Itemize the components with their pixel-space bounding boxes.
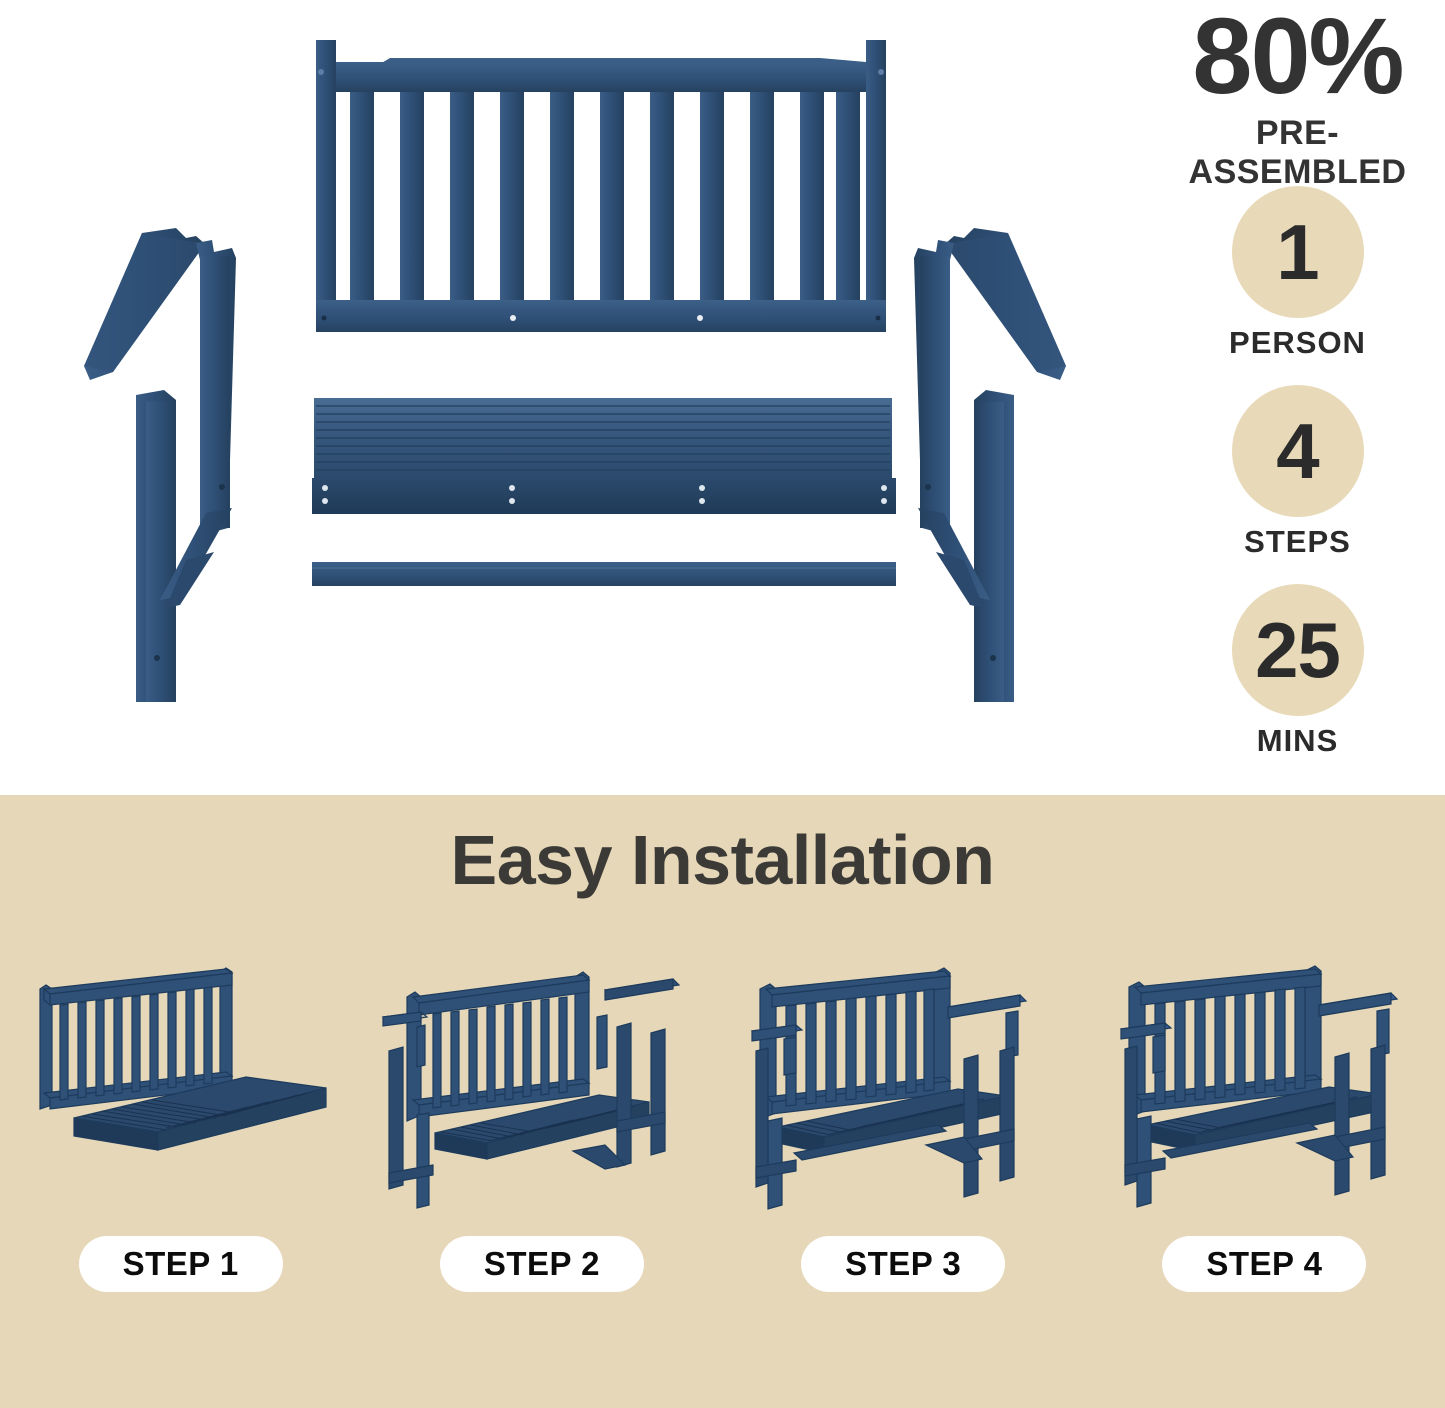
step-1-label: STEP 1	[79, 1236, 283, 1292]
steps-badge-icon: 4	[1232, 385, 1364, 517]
step-3-label: STEP 3	[801, 1236, 1005, 1292]
infographic-page: 80% PRE-ASSEMBLED 1 PERSON 4 STEPS 25 M	[0, 0, 1445, 1408]
backrest-panel-part	[316, 40, 886, 332]
right-side-parts	[914, 228, 1066, 702]
left-side-parts	[84, 228, 236, 702]
bench-fully-assembled-figure	[1099, 955, 1429, 1230]
mins-badge-label: MINS	[1150, 723, 1445, 759]
easy-installation-section: Easy Installation	[0, 795, 1445, 1408]
stats-panel: 80% PRE-ASSEMBLED 1 PERSON 4 STEPS 25 M	[1150, 0, 1445, 795]
bench-armrests-attached-figure	[738, 955, 1068, 1230]
exploded-bench-diagram	[0, 0, 1150, 795]
stat-badge-person: 1 PERSON	[1150, 186, 1445, 361]
installation-step-2: STEP 2	[361, 955, 722, 1292]
headline-block: 80% PRE-ASSEMBLED	[1150, 0, 1445, 192]
stat-badge-mins: 25 MINS	[1150, 584, 1445, 759]
exploded-parts-section: 80% PRE-ASSEMBLED 1 PERSON 4 STEPS 25 M	[0, 0, 1445, 795]
installation-step-1: STEP 1	[0, 955, 361, 1292]
installation-step-3: STEP 3	[723, 955, 1084, 1292]
easy-installation-heading: Easy Installation	[0, 820, 1445, 900]
person-badge-label: PERSON	[1150, 325, 1445, 361]
stat-badge-steps: 4 STEPS	[1150, 385, 1445, 560]
bench-backrest-and-seat-figure	[16, 955, 346, 1230]
step-4-label: STEP 4	[1162, 1236, 1366, 1292]
steps-badge-number: 4	[1276, 412, 1318, 490]
bench-legs-attached-figure	[377, 955, 707, 1230]
front-support-rail-part	[312, 562, 896, 586]
seat-panel-part	[312, 398, 896, 514]
person-badge-icon: 1	[1232, 186, 1364, 318]
mins-badge-number: 25	[1255, 611, 1340, 689]
pre-assembled-percent: 80%	[1150, 2, 1445, 110]
pre-assembled-label: PRE-ASSEMBLED	[1150, 114, 1445, 192]
person-badge-number: 1	[1276, 213, 1318, 291]
clock-badge-icon: 25	[1232, 584, 1364, 716]
step-2-label: STEP 2	[440, 1236, 644, 1292]
installation-steps-row: STEP 1	[0, 955, 1445, 1292]
installation-step-4: STEP 4	[1084, 955, 1445, 1292]
steps-badge-label: STEPS	[1150, 524, 1445, 560]
